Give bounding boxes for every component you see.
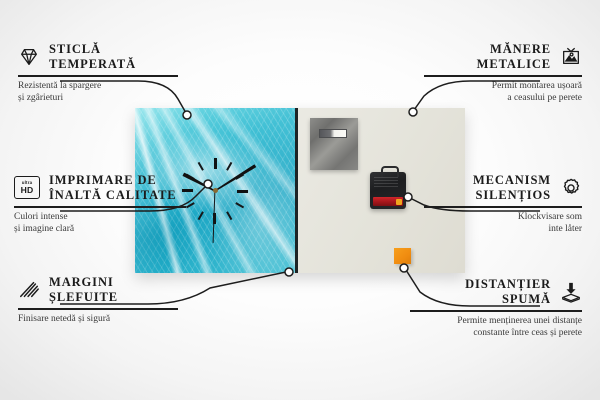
callout-title: MARGINIȘLEFUITE xyxy=(49,275,118,304)
aa-battery xyxy=(373,197,403,206)
hanger-keyhole-slot xyxy=(319,129,347,138)
callout-rule xyxy=(18,308,178,310)
callout-imprimare-calitate: ultra HD IMPRIMARE DEÎNALTĂ CALITATE Cul… xyxy=(14,173,186,235)
picture-frame-icon xyxy=(560,46,582,68)
callout-subtitle: Permite menținerea unei distanțeconstant… xyxy=(410,315,582,340)
quartz-movement xyxy=(370,172,406,209)
callout-rule xyxy=(424,206,582,208)
callout-header: MECANISMSILENȚIOS xyxy=(424,173,582,202)
callout-manere-metalice: MĂNEREMETALICE Permit montarea ușoarăa c… xyxy=(424,42,582,104)
infographic-canvas: STICLĂTEMPERATĂ Rezistentă la spargereși… xyxy=(0,0,600,400)
gear-icon xyxy=(560,177,582,199)
callout-sticla-temperata: STICLĂTEMPERATĂ Rezistentă la spargereși… xyxy=(18,42,178,104)
callout-subtitle: Finisare netedă și sigură xyxy=(18,313,178,325)
callout-rule xyxy=(410,310,582,312)
callout-title: MĂNEREMETALICE xyxy=(477,42,551,71)
callout-rule xyxy=(424,75,582,77)
callout-title: DISTANȚIERSPUMĂ xyxy=(465,277,551,306)
callout-title: IMPRIMARE DEÎNALTĂ CALITATE xyxy=(49,173,177,202)
diagonal-lines-icon xyxy=(18,279,40,301)
callout-subtitle: Culori intenseși imagine clară xyxy=(14,211,186,236)
callout-title: STICLĂTEMPERATĂ xyxy=(49,42,136,71)
callout-title: MECANISMSILENȚIOS xyxy=(473,173,551,202)
callout-header: MARGINIȘLEFUITE xyxy=(18,275,178,304)
callout-subtitle: Permit montarea ușoarăa ceasului pe pere… xyxy=(424,80,582,105)
movement-label xyxy=(374,177,398,187)
callout-header: MĂNEREMETALICE xyxy=(424,42,582,71)
foam-spacer xyxy=(394,248,411,264)
callout-header: STICLĂTEMPERATĂ xyxy=(18,42,178,71)
callout-margini-slefuite: MARGINIȘLEFUITE Finisare netedă și sigur… xyxy=(18,275,178,325)
ultra-hd-icon-bottom-text: HD xyxy=(21,186,34,195)
callout-subtitle: Rezistentă la spargereși zgârieturi xyxy=(18,80,178,105)
callout-subtitle: Klockvisare sominte låter xyxy=(424,211,582,236)
ultra-hd-icon: ultra HD xyxy=(14,176,40,199)
diamond-icon xyxy=(18,46,40,68)
callout-rule xyxy=(14,206,186,208)
callout-header: ultra HD IMPRIMARE DEÎNALTĂ CALITATE xyxy=(14,173,186,202)
callout-distantier-spuma: DISTANȚIERSPUMĂ Permite menținerea unei … xyxy=(410,277,582,339)
callout-header: DISTANȚIERSPUMĂ xyxy=(410,277,582,306)
metal-hanger-plate xyxy=(310,118,358,170)
clock-center-hub xyxy=(213,188,218,193)
callout-mecanism-silentios: MECANISMSILENȚIOS Klockvisare sominte lå… xyxy=(424,173,582,235)
callout-rule xyxy=(18,75,178,77)
movement-hanger-loop xyxy=(381,166,399,177)
press-down-arrow-icon xyxy=(560,281,582,303)
